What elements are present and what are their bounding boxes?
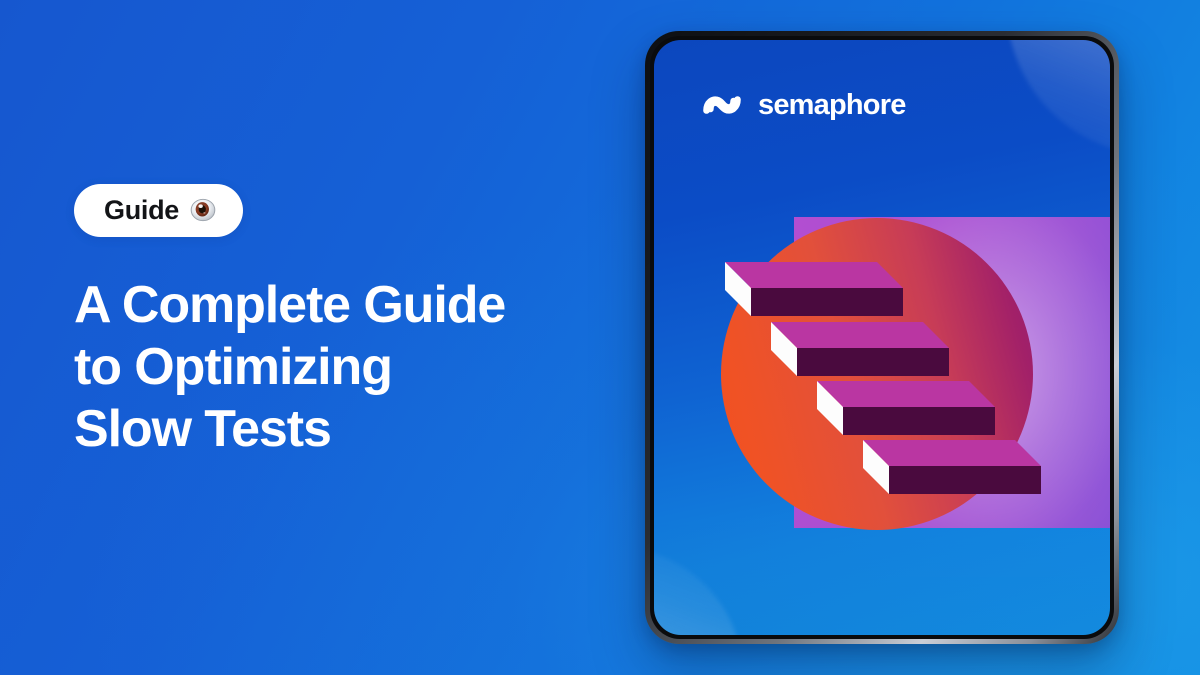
semaphore-logo-mark [700, 89, 744, 121]
page-title: A Complete Guide to Optimizing Slow Test… [74, 275, 634, 461]
semaphore-wordmark: semaphore [758, 91, 906, 120]
stair-step-top-face [771, 322, 949, 348]
headline-line-2: to Optimizing [74, 337, 634, 399]
semaphore-logo: semaphore [700, 89, 906, 121]
stair-step-front-face [751, 288, 903, 316]
stair-step-top-face [817, 381, 995, 407]
hero-card: Guide [0, 0, 1200, 675]
tablet-screen: semaphore [654, 40, 1110, 635]
descending-stairs-illustration [654, 40, 1110, 635]
stair-step-top-face [725, 262, 903, 288]
stair-step [725, 262, 903, 316]
stair-step-front-face [843, 407, 995, 435]
headline-line-3: Slow Tests [74, 399, 634, 461]
stair-step [771, 322, 949, 376]
eye-emoji [189, 196, 217, 224]
tablet-bezel: semaphore [650, 36, 1114, 639]
stair-step-front-face [889, 466, 1041, 494]
tablet-device: semaphore [645, 31, 1119, 644]
stair-step-front-face [797, 348, 949, 376]
stair-step-top-face [863, 440, 1041, 466]
copy-block: Guide [74, 184, 634, 495]
stair-step [817, 381, 995, 435]
headline-line-1: A Complete Guide [74, 275, 634, 337]
guide-badge[interactable]: Guide [74, 184, 243, 237]
stair-step [863, 440, 1041, 494]
guide-badge-label: Guide [104, 197, 179, 224]
